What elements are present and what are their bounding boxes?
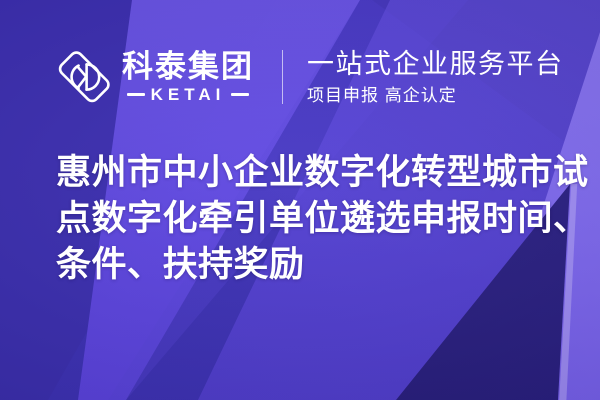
slogan-main: 一站式企业服务平台	[307, 48, 564, 80]
headline-line-2: 点数字化牵引单位遴选申报时间、	[56, 196, 566, 242]
brand-name-en-row: KETAI	[122, 86, 254, 103]
promo-banner: 科泰集团 KETAI 一站式企业服务平台 项目申报 高企认定 惠州市中小企业数字…	[0, 0, 600, 400]
brand-name-en: KETAI	[151, 86, 226, 103]
page-title: 惠州市中小企业数字化转型城市试 点数字化牵引单位遴选申报时间、 条件、扶持奖励	[56, 150, 566, 288]
slogan-sub: 项目申报 高企认定	[307, 85, 564, 106]
right-dash-icon	[231, 93, 249, 96]
ketai-diamond-monogram-icon	[56, 49, 112, 105]
headline-line-3: 条件、扶持奖励	[56, 242, 566, 288]
left-dash-icon	[127, 93, 145, 96]
headline-line-1: 惠州市中小企业数字化转型城市试	[56, 150, 566, 196]
brand-wordmark: 科泰集团 KETAI	[122, 51, 254, 104]
slogan-block: 一站式企业服务平台 项目申报 高企认定	[307, 48, 564, 106]
banner-header: 科泰集团 KETAI 一站式企业服务平台 项目申报 高企认定	[0, 38, 600, 116]
header-divider	[282, 50, 283, 104]
brand-name-cn: 科泰集团	[122, 51, 254, 84]
